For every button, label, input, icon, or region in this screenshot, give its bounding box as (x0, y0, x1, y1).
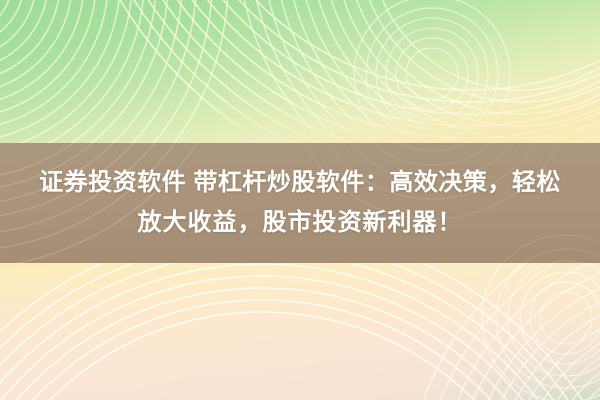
banner-title-line-1: 证券投资软件 带杠杆炒股软件：高效决策，轻松 (39, 163, 561, 203)
article-banner: 证券投资软件 带杠杆炒股软件：高效决策，轻松 放大收益，股市投资新利器！ (0, 0, 600, 400)
banner-title: 证券投资软件 带杠杆炒股软件：高效决策，轻松 放大收益，股市投资新利器！ (0, 143, 600, 263)
title-band: 证券投资软件 带杠杆炒股软件：高效决策，轻松 放大收益，股市投资新利器！ (0, 143, 600, 263)
background-cream-overlay (0, 248, 600, 400)
banner-title-line-2: 放大收益，股市投资新利器！ (138, 203, 463, 243)
